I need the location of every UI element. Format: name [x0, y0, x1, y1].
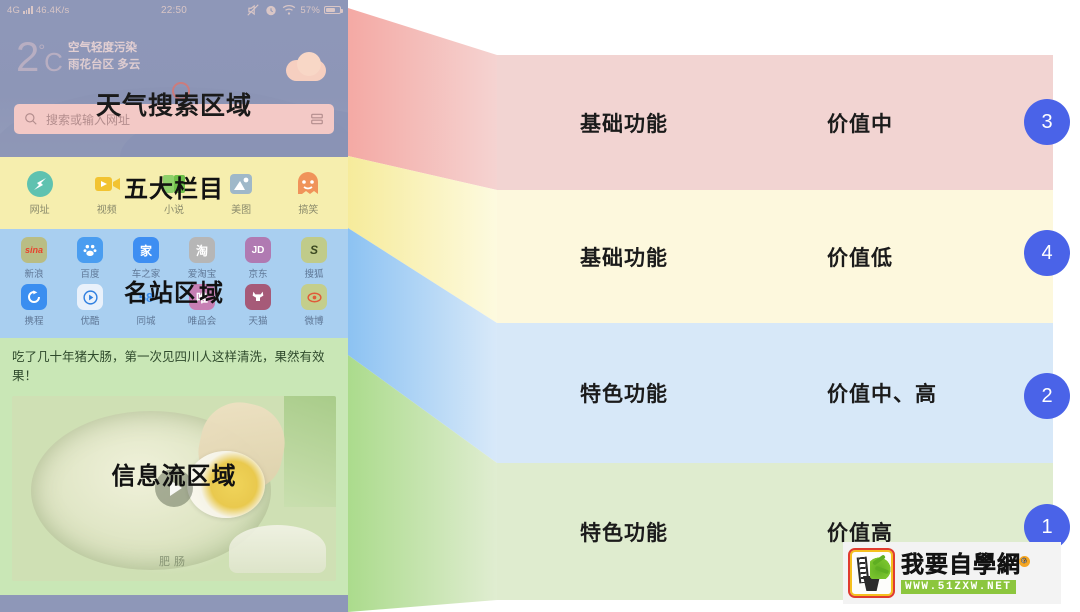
row-category: 基础功能 — [580, 108, 668, 138]
battery-percent-label: 57% — [300, 5, 320, 16]
panel-row: 基础功能 价值低 — [497, 190, 1053, 323]
temperature-display: 2°C — [16, 36, 62, 78]
site-tile: JD — [245, 237, 271, 263]
site-label: 携程 — [8, 313, 60, 327]
row-value: 价值中、高 — [827, 378, 937, 408]
site-tile: 家 — [133, 237, 159, 263]
air-quality-label: 空气轻度污染 — [68, 40, 140, 57]
row-value: 价值中 — [827, 108, 893, 138]
five-column-nav: 网址 视频 小说 — [0, 157, 348, 229]
dish-shape — [229, 525, 326, 573]
temperature-value: 2 — [16, 33, 38, 80]
site-tile: sina — [21, 237, 47, 263]
status-bar: 4G 46.4K/s 22:50 57% — [0, 0, 348, 20]
plant-ladder-logo-icon — [848, 548, 895, 598]
row-value: 价值低 — [827, 242, 893, 272]
watermark-name: 我要自學網G — [901, 552, 1030, 576]
annotation-feed-zone: 信息流区域 — [0, 456, 348, 491]
row-category: 基础功能 — [580, 242, 668, 272]
site-tile: 淘 — [189, 237, 215, 263]
alarm-icon — [264, 3, 278, 17]
row-badge-2: 2 — [1024, 373, 1070, 419]
panel-row: 特色功能 价值中、高 — [497, 323, 1053, 463]
watermark: 我要自學網G WWW.51ZXW.NET — [843, 542, 1061, 604]
battery-icon — [324, 6, 341, 15]
site-tile: S — [301, 237, 327, 263]
row-category: 特色功能 — [580, 378, 668, 408]
site-tile — [77, 237, 103, 263]
location-condition-label: 雨花台区 多云 — [68, 57, 140, 74]
row-badge-4: 4 — [1024, 230, 1070, 276]
annotation-weather-zone: 天气搜索区域 — [0, 86, 348, 122]
site-label: 天猫 — [232, 313, 284, 327]
news-feed: 吃了几十年猪大肠，第一次见四川人这样清洗，果然有效果！ 肥肠 信息流区域 — [0, 338, 348, 595]
phone-mockup: 4G 46.4K/s 22:50 57% — [0, 0, 348, 612]
temperature-unit: C — [44, 47, 62, 77]
annotation-five-column-zone: 五大栏目 — [0, 169, 348, 204]
row-category: 特色功能 — [580, 517, 668, 547]
site-label: 微博 — [288, 313, 340, 327]
site-label: 唯品会 — [176, 313, 228, 327]
row-badge-3: 3 — [1024, 99, 1070, 145]
weather-text: 空气轻度污染 雨花台区 多云 — [68, 40, 140, 75]
mute-icon — [246, 3, 260, 17]
watermark-url: WWW.51ZXW.NET — [901, 580, 1016, 594]
screenshot-root: 基础功能 价值中 基础功能 价值低 特色功能 价值中、高 特色功能 价值高 3 … — [0, 0, 1080, 612]
site-label: 同城 — [120, 313, 172, 327]
cloud-icon — [282, 52, 326, 82]
weather-header: 2°C 空气轻度污染 雨花台区 多云 天气搜索区域 — [0, 20, 348, 157]
site-label: 优酷 — [64, 313, 116, 327]
wifi-icon — [282, 3, 296, 17]
panel-row: 基础功能 价值中 — [497, 55, 1053, 190]
feed-credit-label: 肥肠 — [159, 553, 189, 569]
annotation-sites-zone: 名站区域 — [0, 273, 348, 308]
feed-article-title[interactable]: 吃了几十年猪大肠，第一次见四川人这样清洗，果然有效果！ — [12, 348, 336, 387]
famous-sites-grid: sina 新浪 百度 家 车之家 淘 爱淘宝 — [0, 229, 348, 338]
